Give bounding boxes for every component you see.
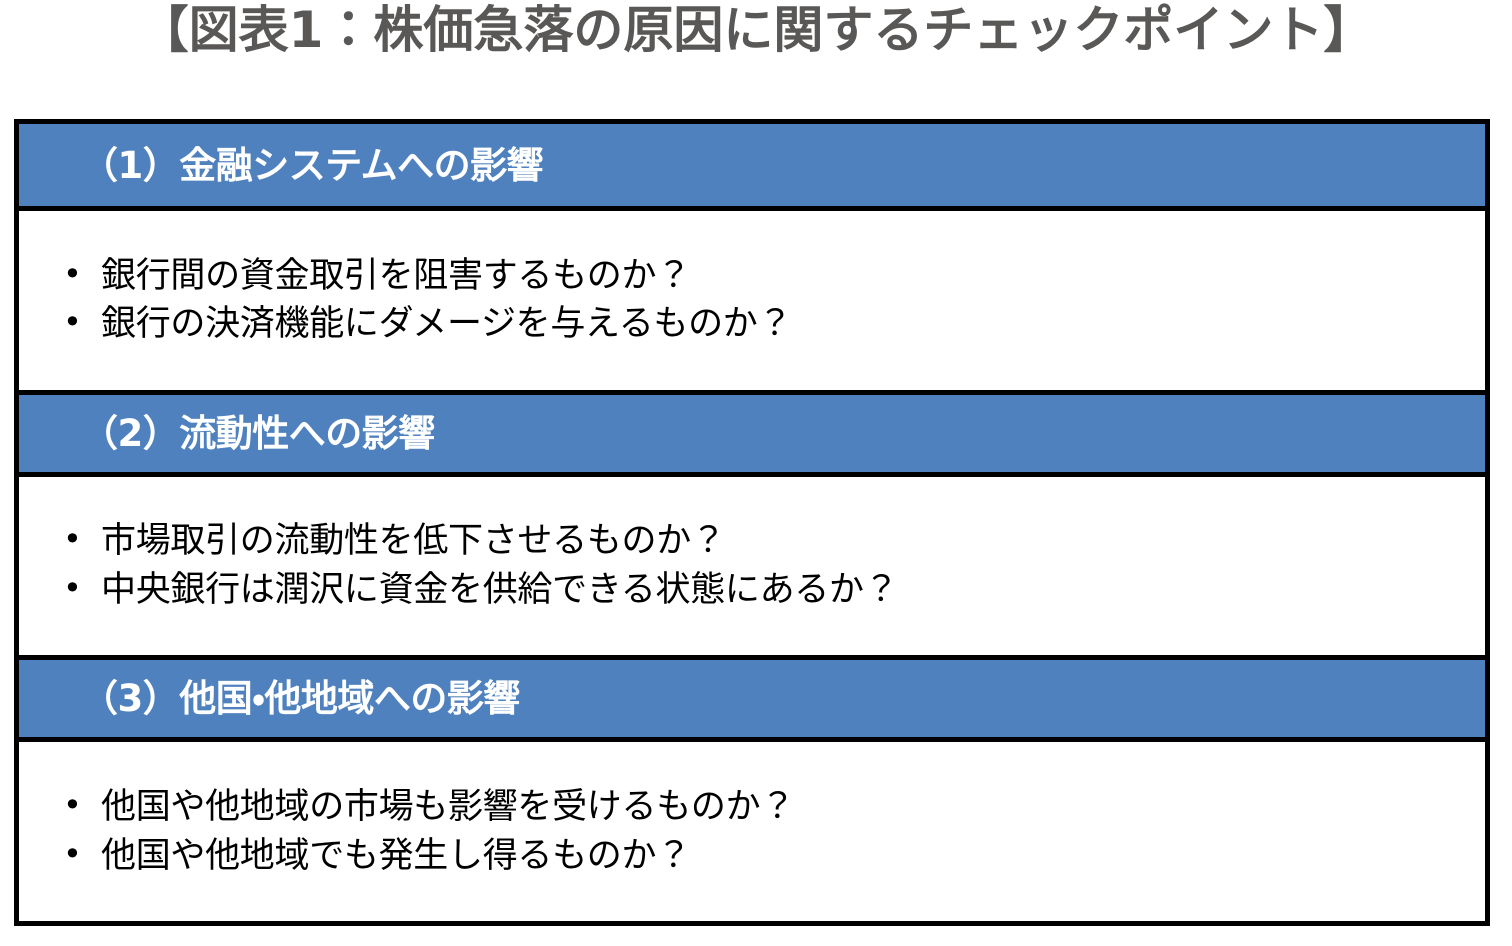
bullet-text: 銀行間の資金取引を阻害するものか？ — [101, 254, 1485, 299]
list-item: • 他国や他地域でも発生し得るものか？ — [63, 832, 1485, 881]
checkpoint-table: （1）金融システムへの影響 • 銀行間の資金取引を阻害するものか？ • 銀行の決… — [14, 119, 1490, 926]
section-other-countries: （3）他国・他地域への影響 • 他国や他地域の市場も影響を受けるものか？ • 他… — [19, 655, 1485, 921]
list-item: • 銀行の決済機能にダメージを与えるものか？ — [63, 300, 1485, 349]
bullet-text: 中央銀行は潤沢に資金を供給できる状態にあるか？ — [101, 568, 1485, 613]
bullet-dot-icon: • — [63, 519, 101, 560]
bullet-list-3: • 他国や他地域の市場も影響を受けるものか？ • 他国や他地域でも発生し得るもの… — [63, 783, 1485, 881]
section-header-1: （1）金融システムへの影響 — [19, 124, 1485, 211]
section-body-3: • 他国や他地域の市場も影響を受けるものか？ • 他国や他地域でも発生し得るもの… — [19, 742, 1485, 921]
list-item: • 銀行間の資金取引を阻害するものか？ — [63, 252, 1485, 301]
bullet-list-2: • 市場取引の流動性を低下させるものか？ • 中央銀行は潤沢に資金を供給できる状… — [63, 517, 1485, 615]
bullet-dot-icon: • — [63, 834, 101, 875]
section-header-label-2: （2）流動性への影響 — [81, 415, 435, 452]
list-item: • 中央銀行は潤沢に資金を供給できる状態にあるか？ — [63, 566, 1485, 615]
list-item: • 市場取引の流動性を低下させるものか？ — [63, 517, 1485, 566]
section-header-3: （3）他国・他地域への影響 — [19, 655, 1485, 742]
section-header-label-1: （1）金融システムへの影響 — [81, 147, 543, 184]
bullet-dot-icon: • — [63, 568, 101, 609]
bullet-text: 他国や他地域でも発生し得るものか？ — [101, 834, 1485, 879]
bullet-dot-icon: • — [63, 254, 101, 295]
section-header-label-3: （3）他国・他地域への影響 — [81, 680, 520, 717]
section-liquidity: （2）流動性への影響 • 市場取引の流動性を低下させるものか？ • 中央銀行は潤… — [19, 390, 1485, 656]
bullet-list-1: • 銀行間の資金取引を阻害するものか？ • 銀行の決済機能にダメージを与えるもの… — [63, 252, 1485, 350]
section-financial-system: （1）金融システムへの影響 • 銀行間の資金取引を阻害するものか？ • 銀行の決… — [19, 124, 1485, 390]
section-header-2: （2）流動性への影響 — [19, 390, 1485, 477]
bullet-text: 他国や他地域の市場も影響を受けるものか？ — [101, 785, 1485, 830]
list-item: • 他国や他地域の市場も影響を受けるものか？ — [63, 783, 1485, 832]
section-body-1: • 銀行間の資金取引を阻害するものか？ • 銀行の決済機能にダメージを与えるもの… — [19, 211, 1485, 390]
bullet-text: 銀行の決済機能にダメージを与えるものか？ — [101, 302, 1485, 347]
page-title: 【図表1：株価急落の原因に関するチェックポイント】 — [0, 4, 1512, 57]
bullet-dot-icon: • — [63, 785, 101, 826]
bullet-dot-icon: • — [63, 302, 101, 343]
bullet-text: 市場取引の流動性を低下させるものか？ — [101, 519, 1485, 564]
section-body-2: • 市場取引の流動性を低下させるものか？ • 中央銀行は潤沢に資金を供給できる状… — [19, 477, 1485, 656]
